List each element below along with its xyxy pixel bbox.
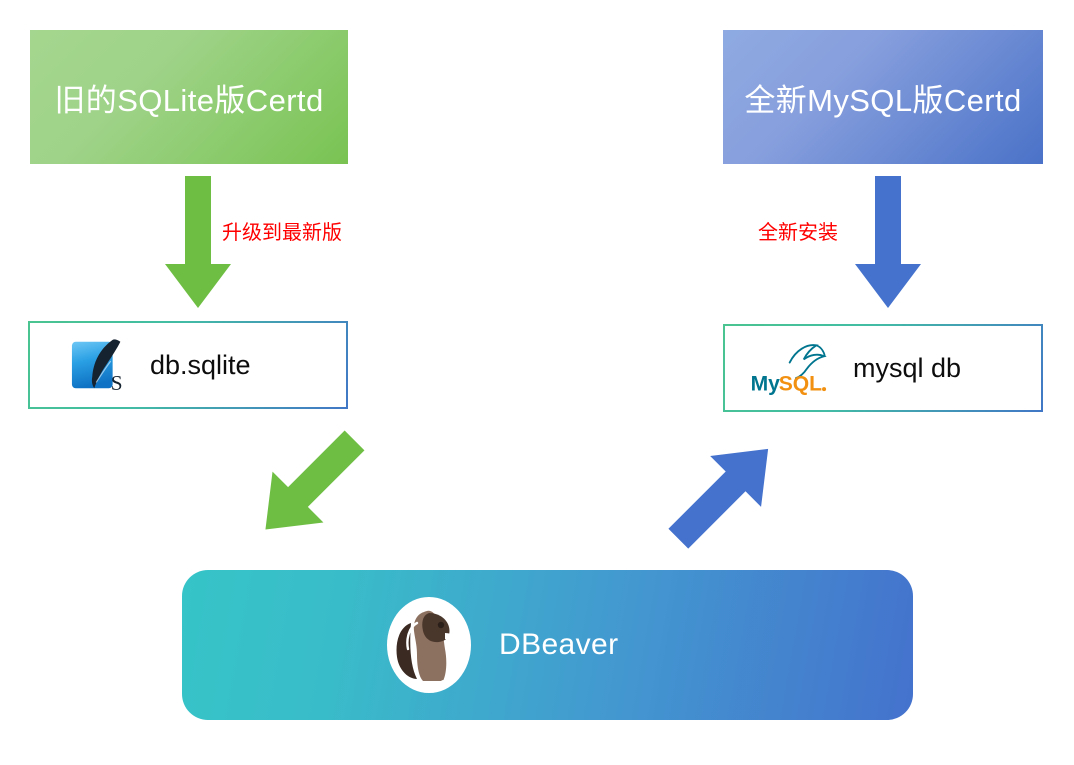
node-dbeaver-label: DBeaver [499, 628, 619, 662]
sqlite-logo-icon: S [70, 334, 132, 396]
node-db-sqlite-label: db.sqlite [150, 350, 251, 381]
node-db-sqlite: S db.sqlite [28, 321, 348, 409]
node-db-mysql-label: mysql db [853, 353, 961, 384]
node-db-mysql: My SQL mysql db [723, 324, 1043, 412]
node-new-certd: 全新MySQL版Certd [723, 30, 1043, 164]
diagram-canvas: 旧的SQLite版Certd 全新MySQL版Certd 升级到最新版 全新安装 [0, 0, 1074, 765]
svg-text:SQL: SQL [779, 373, 822, 396]
svg-text:My: My [751, 373, 781, 396]
arrow-dbeaver-to-mysql [655, 425, 795, 565]
dbeaver-beaver-icon [387, 597, 471, 693]
node-dbeaver: DBeaver [182, 570, 913, 720]
node-old-certd-label: 旧的SQLite版Certd [54, 75, 323, 120]
mysql-logo-icon: My SQL [749, 339, 835, 397]
edge-label-upgrade: 升级到最新版 [222, 216, 342, 245]
edge-label-fresh-install: 全新安装 [758, 216, 838, 245]
svg-text:S: S [111, 371, 123, 395]
node-old-certd: 旧的SQLite版Certd [30, 30, 348, 164]
node-new-certd-label: 全新MySQL版Certd [744, 75, 1021, 120]
arrow-fresh-install-down [855, 176, 921, 313]
arrow-sqlite-to-dbeaver [243, 420, 378, 555]
